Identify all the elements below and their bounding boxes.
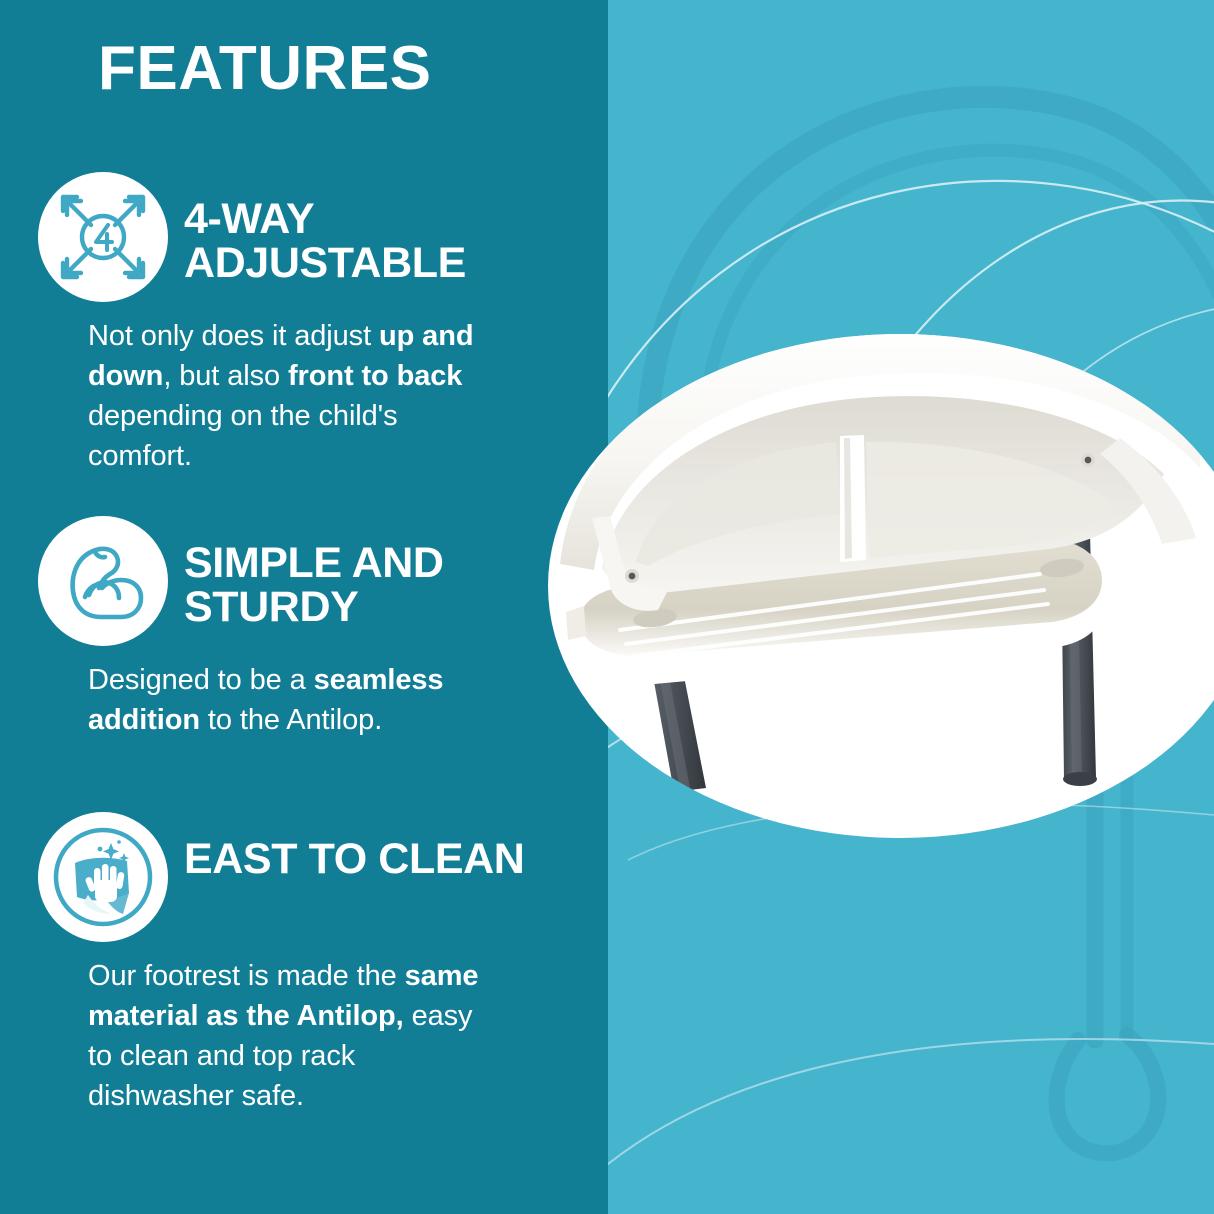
feature-body: Our footrest is made the same material a… xyxy=(0,942,560,1116)
feature-block-east-to-clean: EAST TO CLEAN Our footrest is made the s… xyxy=(0,818,560,1116)
high-chair-footrest-photo xyxy=(540,318,1214,878)
feature-body: Not only does it adjust up and down, but… xyxy=(0,302,560,476)
feature-header: 4-WAY ADJUSTABLE xyxy=(0,178,560,302)
infographic-stage: FEATURES xyxy=(0,0,1214,1214)
flexed-bicep-icon xyxy=(38,516,168,646)
product-photo-container xyxy=(540,318,1214,878)
feature-title: SIMPLE AND STURDY xyxy=(184,522,534,630)
page-title: FEATURES xyxy=(98,38,432,100)
cleaning-cloth-hand-icon xyxy=(38,812,168,942)
four-way-arrows-icon xyxy=(38,172,168,302)
feature-header: SIMPLE AND STURDY xyxy=(0,522,560,646)
feature-block-4-way-adjustable: 4-WAY ADJUSTABLE Not only does it adjust… xyxy=(0,178,560,476)
feature-header: EAST TO CLEAN xyxy=(0,818,560,942)
feature-title: 4-WAY ADJUSTABLE xyxy=(184,178,534,286)
feature-title: EAST TO CLEAN xyxy=(184,818,524,882)
feature-body: Designed to be a seamless addition to th… xyxy=(0,646,560,740)
feature-block-simple-and-sturdy: SIMPLE AND STURDY Designed to be a seaml… xyxy=(0,522,560,740)
